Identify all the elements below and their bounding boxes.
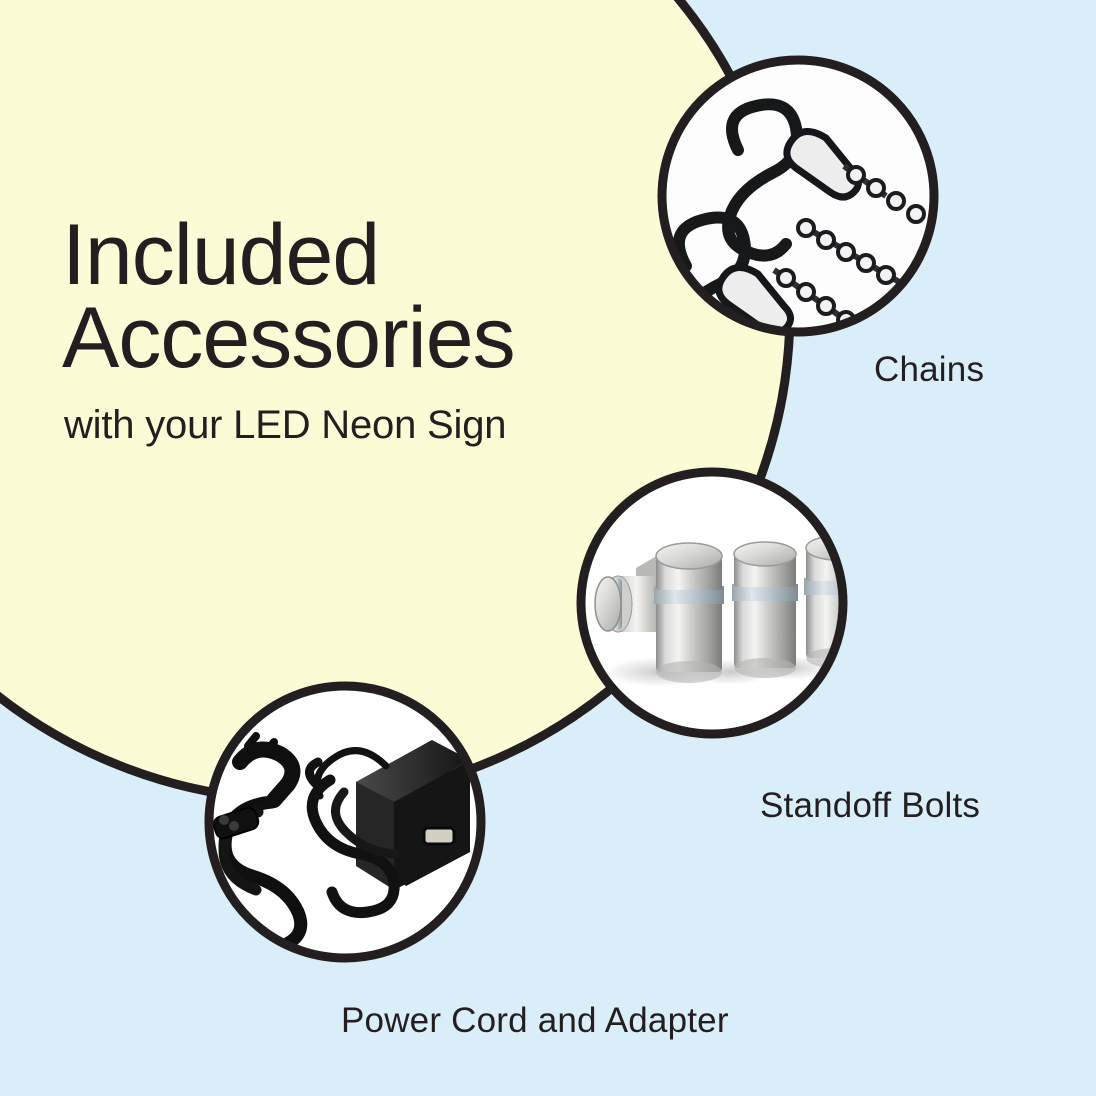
page-subtitle: with your LED Neon Sign bbox=[64, 403, 506, 448]
page-title-line2: Accessories bbox=[62, 297, 702, 380]
standoff-bolt-1 bbox=[654, 543, 724, 683]
caption-standoff-bolts: Standoff Bolts bbox=[760, 786, 980, 826]
accessories-infographic: Included Accessories with your LED Neon … bbox=[0, 0, 1096, 1096]
page-title-line1: Included bbox=[62, 214, 702, 297]
accessory-photo-power-cord bbox=[209, 686, 481, 958]
caption-chains: Chains bbox=[874, 350, 984, 390]
caption-power-cord: Power Cord and Adapter bbox=[341, 1001, 729, 1041]
page-title: Included Accessories bbox=[62, 214, 702, 381]
standoff-bolt-2 bbox=[732, 542, 798, 678]
infographic-artwork bbox=[0, 0, 1096, 1096]
